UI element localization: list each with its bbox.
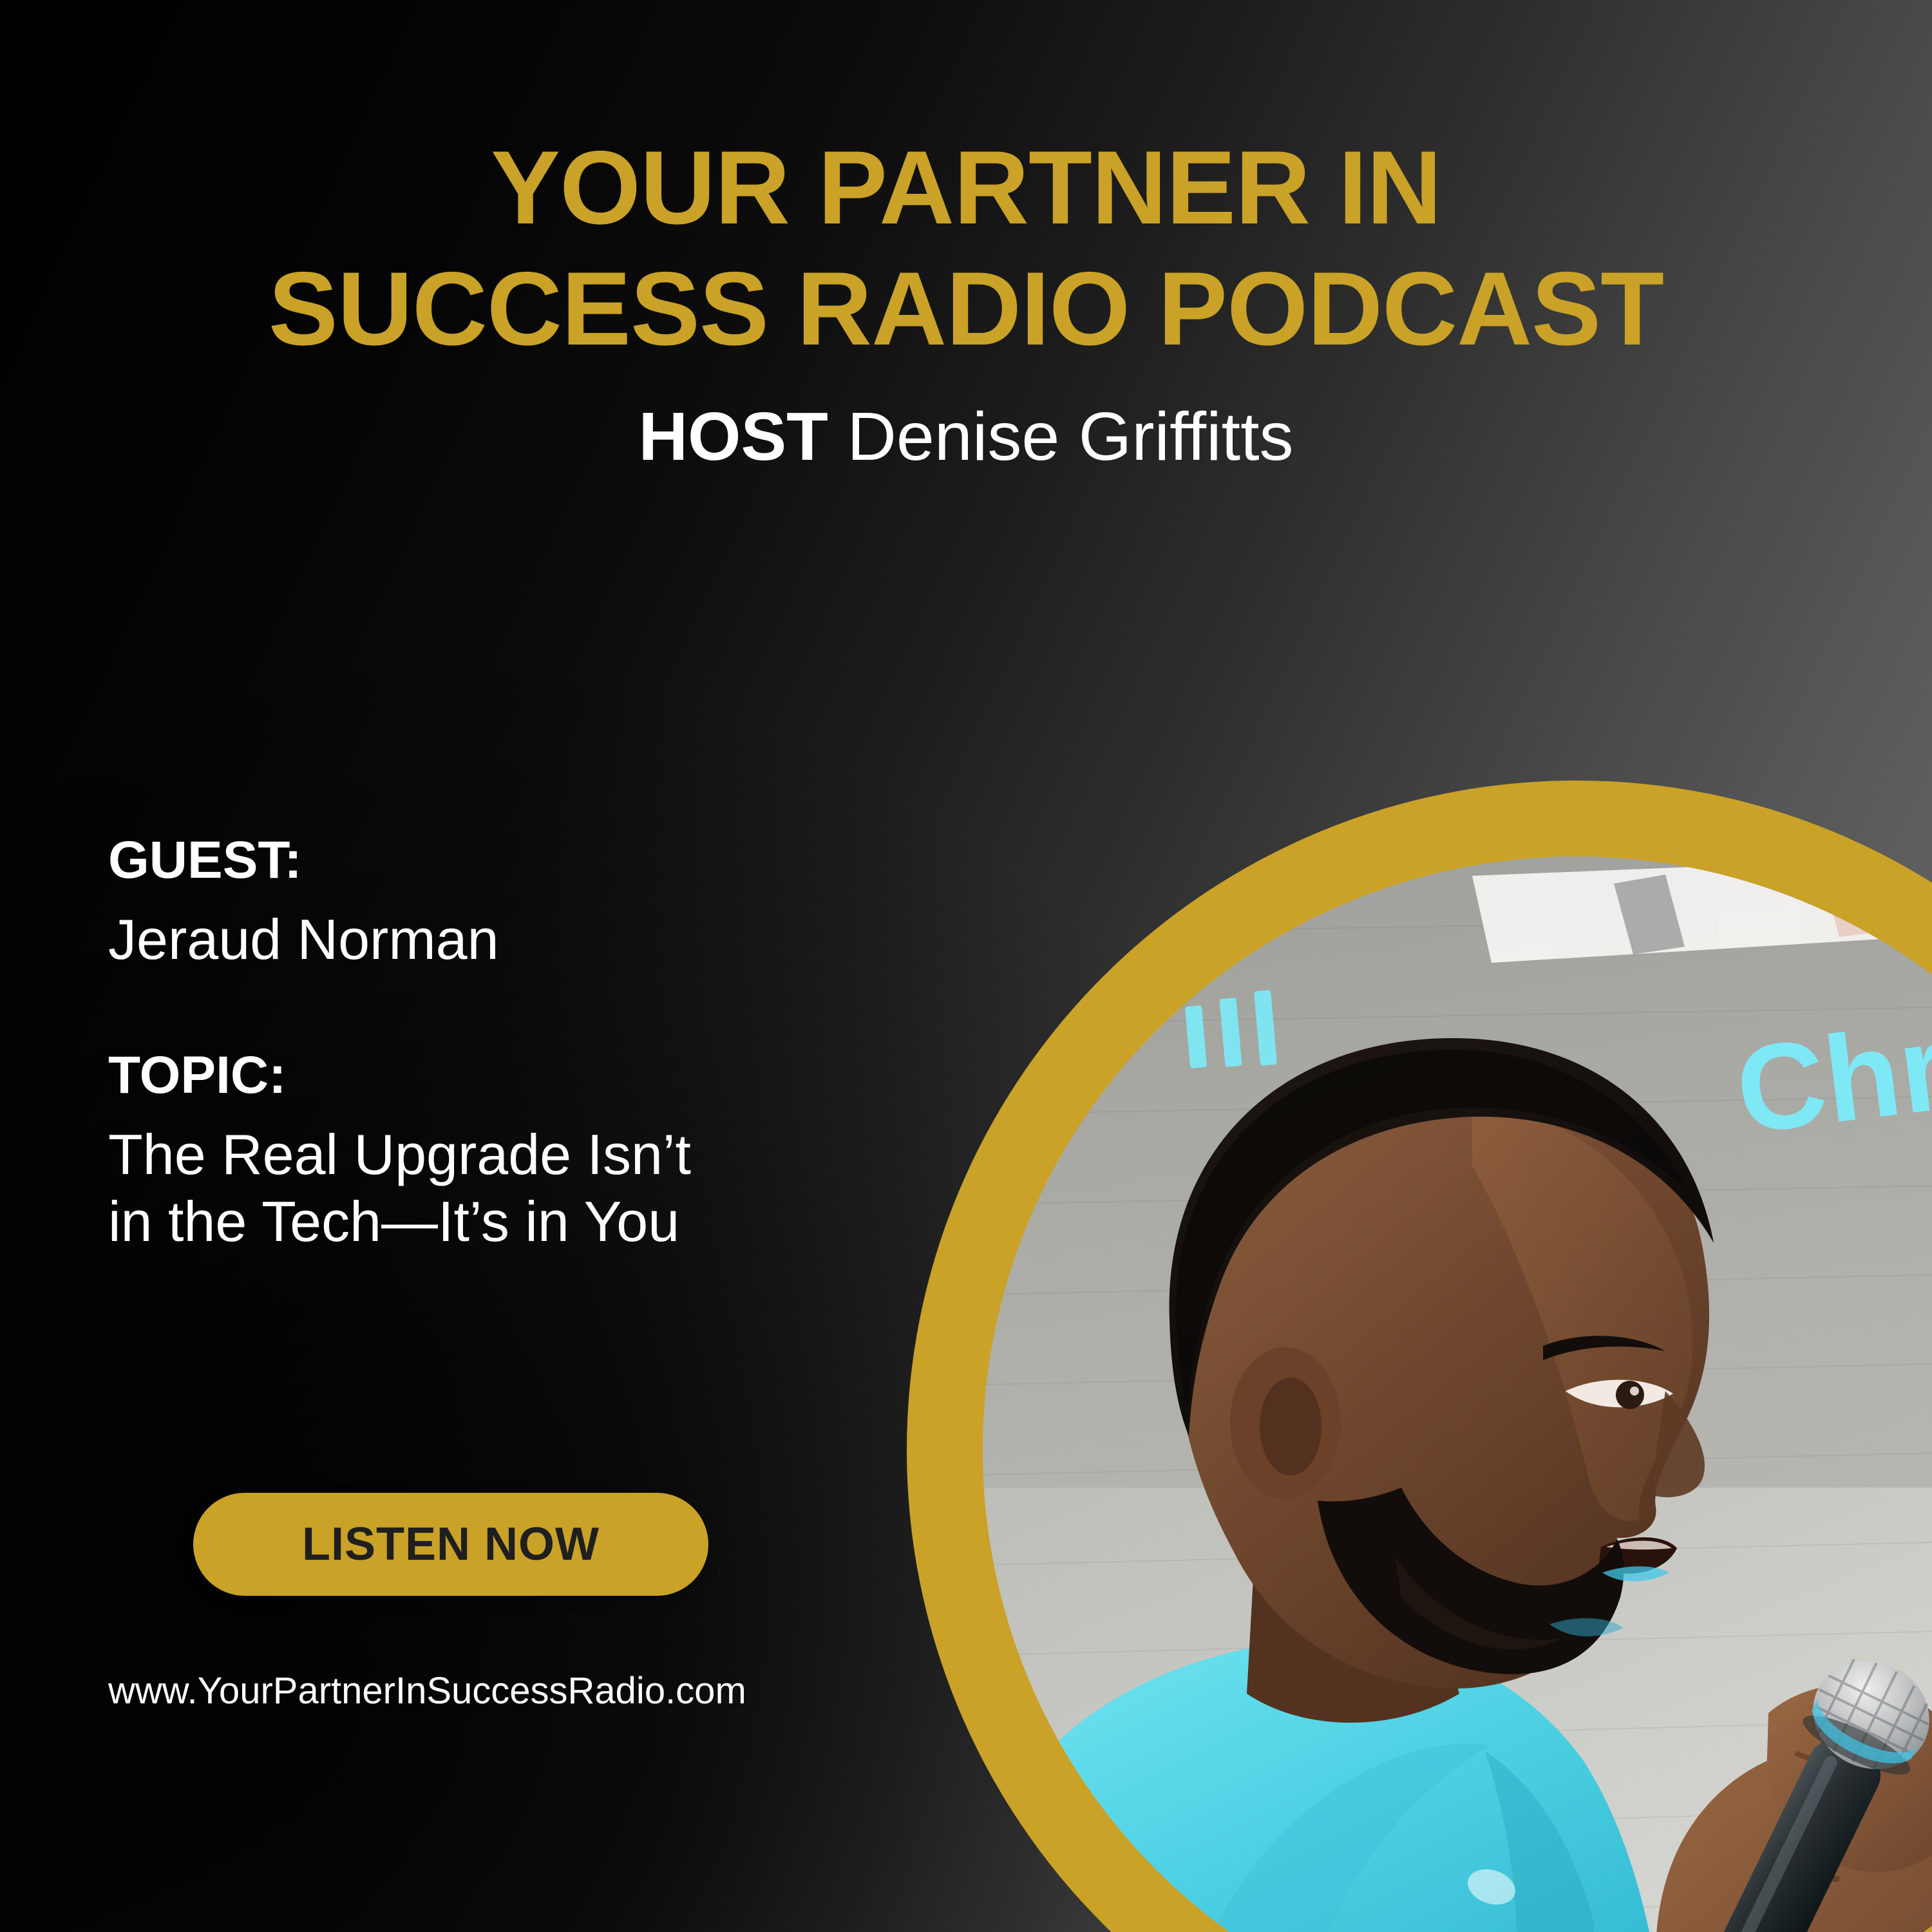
- topic-label: TOPIC:: [108, 1049, 868, 1102]
- topic-line-2: in the Tech—It’s in You: [108, 1188, 868, 1255]
- host-line: HOST Denise Griffitts: [0, 399, 1932, 475]
- podcast-title-line-1: YOUR PARTNER IN: [0, 128, 1932, 249]
- topic-line-1: The Real Upgrade Isn’t: [108, 1121, 868, 1188]
- podcast-title-line-2: SUCCESS RADIO PODCAST: [0, 249, 1932, 370]
- guest-photo-gold-ring: Christen Rob: [907, 781, 1932, 1932]
- header: YOUR PARTNER IN SUCCESS RADIO PODCAST: [0, 128, 1932, 370]
- listen-now-button[interactable]: LISTEN NOW: [193, 1493, 708, 1596]
- website-url[interactable]: www.YourPartnerInSuccessRadio.com: [108, 1669, 746, 1712]
- guest-photo: Christen Rob: [983, 857, 1932, 1932]
- host-label: HOST: [638, 399, 828, 475]
- guest-label: GUEST:: [108, 834, 868, 887]
- guest-block: GUEST: Jeraud Norman: [108, 834, 868, 973]
- guest-photo-illustration: Christen Rob: [983, 857, 1932, 1932]
- cta-container: LISTEN NOW: [193, 1493, 708, 1596]
- podcast-promo-poster: YOUR PARTNER IN SUCCESS RADIO PODCAST HO…: [0, 0, 1932, 1932]
- details-column: GUEST: Jeraud Norman TOPIC: The Real Upg…: [108, 834, 868, 1255]
- topic-block: TOPIC: The Real Upgrade Isn’t in the Tec…: [108, 1049, 868, 1255]
- guest-name: Jeraud Norman: [108, 906, 868, 973]
- host-name: Denise Griffitts: [847, 399, 1293, 475]
